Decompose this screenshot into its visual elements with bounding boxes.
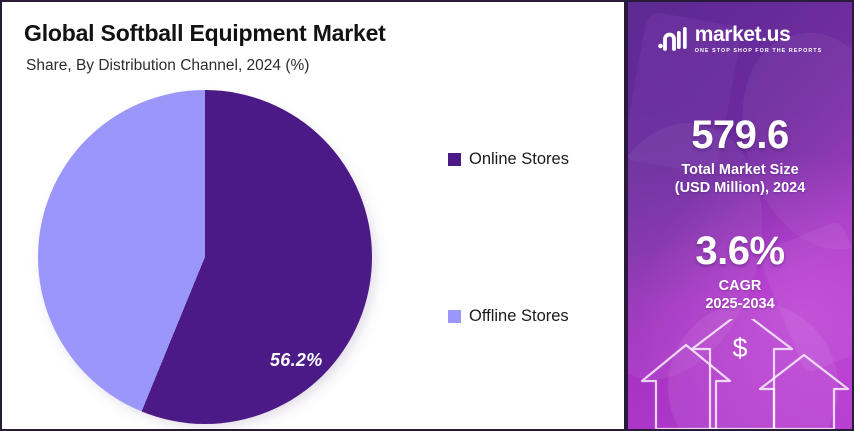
stat-caption-line-2: (USD Million), 2024: [628, 180, 852, 198]
legend-swatch-offline-stores: [448, 310, 461, 323]
stat-caption-line-1: CAGR: [628, 278, 852, 296]
stat-caption-line-1: Total Market Size: [628, 162, 852, 180]
brand-panel: market.us ONE STOP SHOP FOR THE REPORTS …: [626, 0, 854, 431]
chart-panel: Global Softball Equipment Market Share, …: [0, 0, 626, 431]
pie-slice-label-online-stores: 56.2%: [270, 350, 323, 371]
stat-cagr: 3.6% CAGR 2025-2034: [628, 230, 852, 313]
chart-subtitle: Share, By Distribution Channel, 2024 (%): [26, 57, 309, 75]
stat-total-market-size: 579.6 Total Market Size (USD Million), 2…: [628, 114, 852, 197]
stat-caption-line-2: 2025-2034: [628, 296, 852, 314]
pie-chart-surface: [38, 90, 372, 424]
brand-logo[interactable]: market.us ONE STOP SHOP FOR THE REPORTS: [628, 24, 852, 54]
legend-item-offline-stores[interactable]: Offline Stores: [448, 307, 569, 326]
stat-value-cagr: 3.6%: [628, 230, 852, 272]
brand-tagline: ONE STOP SHOP FOR THE REPORTS: [695, 48, 823, 54]
market-infographic: Global Softball Equipment Market Share, …: [0, 0, 854, 431]
page-title: Global Softball Equipment Market: [24, 20, 386, 47]
market-us-logo-icon: [658, 26, 688, 52]
legend-item-online-stores[interactable]: Online Stores: [448, 150, 569, 169]
stat-value-total-market-size: 579.6: [628, 114, 852, 156]
growth-arrows-icon: [628, 319, 854, 429]
stat-caption-cagr: CAGR 2025-2034: [628, 278, 852, 313]
brand-wordmark: market.us: [695, 24, 791, 45]
legend-label-offline-stores: Offline Stores: [469, 307, 569, 326]
brand-logo-text: market.us ONE STOP SHOP FOR THE REPORTS: [695, 24, 823, 54]
stat-caption-total-market-size: Total Market Size (USD Million), 2024: [628, 162, 852, 197]
pie-chart: 56.2%: [38, 90, 376, 428]
legend-swatch-online-stores: [448, 153, 461, 166]
legend-label-online-stores: Online Stores: [469, 150, 569, 169]
